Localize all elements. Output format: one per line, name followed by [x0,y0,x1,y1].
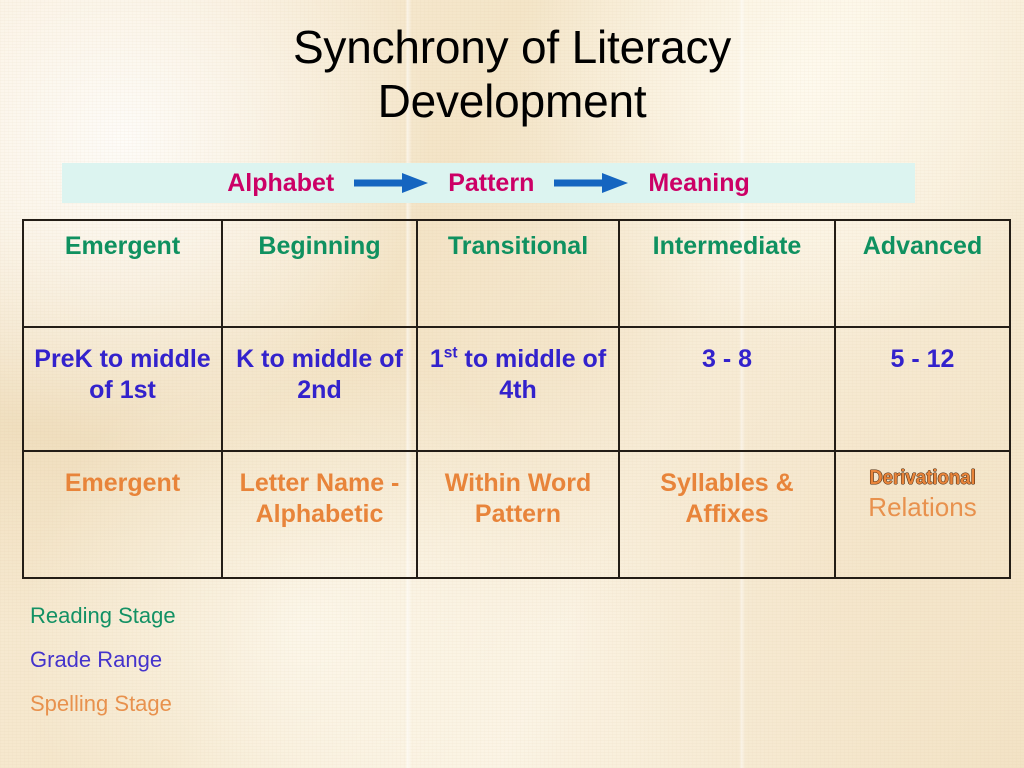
cell-grade-advanced: 5 - 12 [835,327,1010,451]
grade-range-advanced: 5 - 12 [836,328,1009,375]
legend: Reading Stage Grade Range Spelling Stage [30,594,176,726]
cell-reading-intermediate: Intermediate [619,220,835,327]
reading-stage-emergent: Emergent [24,221,221,262]
spelling-stage-emergent: Emergent [24,452,221,499]
reading-stage-transitional: Transitional [418,221,618,262]
cell-spelling-syllables-affixes: Syllables & Affixes [619,451,835,578]
cell-spelling-emergent: Emergent [23,451,222,578]
slide-title-line-2: Development [0,74,1024,128]
cell-reading-beginning: Beginning [222,220,417,327]
derivational-line-2: Relations [836,492,1009,524]
spelling-stage-letter-name-alphabetic: Letter Name - Alphabetic [223,452,416,529]
banner-item-pattern: Pattern [448,169,534,198]
legend-item-grade-range: Grade Range [30,638,176,682]
banner-item-meaning: Meaning [648,169,749,198]
reading-stage-advanced: Advanced [836,221,1009,262]
cell-reading-emergent: Emergent [23,220,222,327]
cell-reading-advanced: Advanced [835,220,1010,327]
literacy-synchrony-table: Emergent Beginning Transitional Intermed… [22,219,1011,579]
cell-grade-beginning: K to middle of 2nd [222,327,417,451]
right-arrow-icon-2 [554,172,628,194]
reading-stage-beginning: Beginning [223,221,416,262]
grade-ordinal-number: 1 [430,345,444,373]
grade-range-emergent: PreK to middle of 1st [24,328,221,405]
cell-spelling-letter-name: Letter Name - Alphabetic [222,451,417,578]
table-row-reading-stage: Emergent Beginning Transitional Intermed… [23,220,1010,327]
cell-reading-transitional: Transitional [417,220,619,327]
slide-title-line-1: Synchrony of Literacy [0,20,1024,74]
cell-spelling-derivational-relations: Derivational Relations [835,451,1010,578]
cell-grade-intermediate: 3 - 8 [619,327,835,451]
grade-ordinal-suffix: st [444,345,458,362]
grade-range-rest: to middle of 4th [458,345,607,404]
legend-item-reading-stage: Reading Stage [30,594,176,638]
slide-title: Synchrony of Literacy Development [0,20,1024,128]
grade-range-intermediate: 3 - 8 [620,328,834,375]
grade-range-transitional: 1st to middle of 4th [418,328,618,405]
reading-stage-intermediate: Intermediate [620,221,834,262]
banner-item-alphabet: Alphabet [227,169,334,198]
spelling-stage-derivational-relations: Derivational Relations [836,452,1009,524]
grade-range-beginning: K to middle of 2nd [223,328,416,405]
spelling-stage-syllables-affixes: Syllables & Affixes [620,452,834,529]
cell-grade-emergent: PreK to middle of 1st [23,327,222,451]
right-arrow-icon [354,172,428,194]
cell-grade-transitional: 1st to middle of 4th [417,327,619,451]
table-row-grade-range: PreK to middle of 1st K to middle of 2nd… [23,327,1010,451]
derivational-line-1: Derivational [842,466,1003,490]
cell-spelling-within-word: Within Word Pattern [417,451,619,578]
progression-banner: Alphabet Pattern Meaning [62,163,915,203]
legend-item-spelling-stage: Spelling Stage [30,682,176,726]
spelling-stage-within-word-pattern: Within Word Pattern [418,452,618,529]
table-row-spelling-stage: Emergent Letter Name - Alphabetic Within… [23,451,1010,578]
